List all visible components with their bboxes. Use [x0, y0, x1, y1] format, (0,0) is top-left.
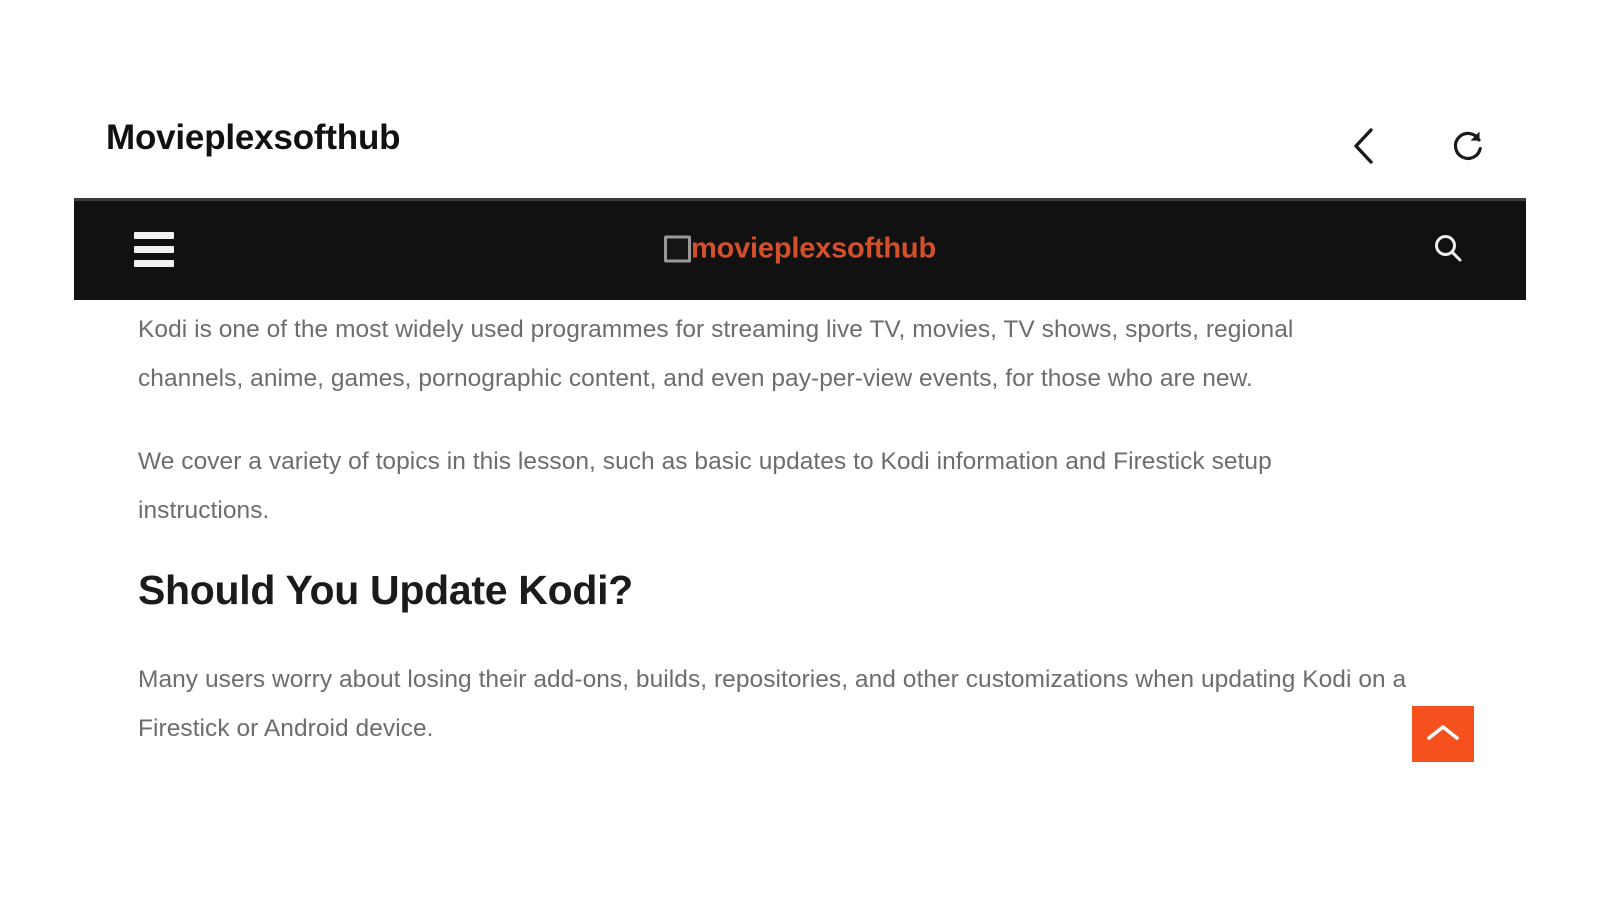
broken-image-icon [664, 236, 691, 263]
chevron-left-icon [1347, 124, 1381, 168]
site-brand-link[interactable]: movieplexsofthub [664, 235, 936, 264]
hamburger-menu-icon-bar [134, 246, 174, 253]
page-title: Movieplexsofthub [106, 120, 400, 155]
search-icon [1431, 231, 1465, 268]
article-paragraph: We cover a variety of topics in this les… [138, 437, 1353, 535]
chevron-up-icon [1425, 721, 1461, 748]
back-button[interactable] [1342, 124, 1386, 168]
header-actions [1342, 124, 1490, 168]
section-heading: Should You Update Kodi? [138, 567, 633, 614]
scroll-to-top-button[interactable] [1412, 706, 1474, 762]
site-brand-label: movieplexsofthub [691, 235, 936, 264]
article-paragraph: Many users worry about losing their add-… [138, 655, 1448, 753]
search-button[interactable] [1426, 227, 1470, 271]
hamburger-menu-icon-bar [134, 232, 174, 239]
article-paragraph: Kodi is one of the most widely used prog… [138, 305, 1368, 403]
hamburger-menu-icon-bar [134, 260, 174, 267]
browser-viewport: Movieplexsofthub Kodi is on [0, 0, 1600, 900]
browser-header: Movieplexsofthub [0, 0, 1600, 198]
reload-button[interactable] [1446, 124, 1490, 168]
reload-icon [1449, 126, 1487, 166]
hamburger-menu-button[interactable] [134, 229, 180, 269]
site-navigation-bar: movieplexsofthub [74, 198, 1526, 300]
